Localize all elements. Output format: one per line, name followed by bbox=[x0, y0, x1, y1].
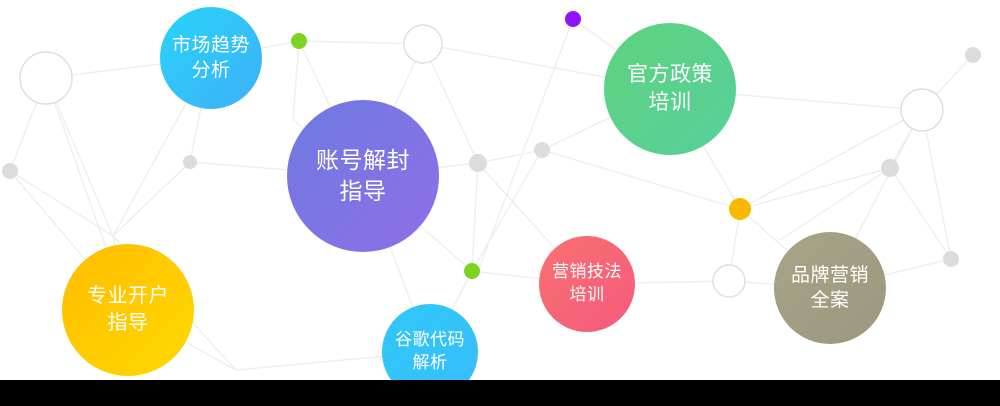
node-top-left bbox=[20, 52, 72, 104]
bubble-label: 市场趋势 分析 bbox=[168, 33, 254, 84]
bubble-label: 账号解封 指导 bbox=[312, 145, 414, 207]
footer-bar bbox=[0, 380, 1000, 406]
bubble-professional-account-opening[interactable]: 专业开户 指导 bbox=[62, 244, 194, 376]
dot-left-edge bbox=[2, 163, 18, 179]
dot-right-lower bbox=[943, 251, 959, 267]
bubble-label: 专业开户 指导 bbox=[83, 283, 173, 337]
dot-right-mid bbox=[881, 159, 899, 177]
dot-center-left bbox=[469, 154, 487, 172]
dot-center bbox=[534, 142, 550, 158]
bubble-label: 营销技法 培训 bbox=[548, 261, 626, 307]
dot-green-top[interactable] bbox=[291, 33, 307, 49]
dot-purple-top[interactable] bbox=[565, 11, 581, 27]
bubble-label: 品牌营销 全案 bbox=[787, 263, 873, 314]
network-edge bbox=[10, 171, 113, 236]
node-top-center bbox=[404, 25, 442, 63]
dot-right-top bbox=[965, 47, 981, 63]
bubble-account-unblock-guidance[interactable]: 账号解封 指导 bbox=[287, 100, 439, 252]
network-edge bbox=[478, 150, 542, 163]
network-edge bbox=[740, 168, 890, 209]
bubble-label: 官方政策 培训 bbox=[623, 61, 717, 117]
network-edge bbox=[472, 163, 478, 271]
dot-left-inner bbox=[183, 155, 197, 169]
dot-green-center[interactable] bbox=[464, 263, 480, 279]
node-mid-right bbox=[713, 265, 745, 297]
network-edge bbox=[293, 41, 299, 120]
bubble-label: 谷歌代码 解析 bbox=[391, 329, 469, 375]
node-right-upper bbox=[901, 89, 943, 131]
bubble-brand-marketing-full-case[interactable]: 品牌营销 全案 bbox=[774, 232, 886, 344]
dot-yellow-right[interactable] bbox=[729, 198, 751, 220]
bubble-official-policy-training[interactable]: 官方政策 培训 bbox=[604, 23, 736, 155]
bubble-market-trend-analysis[interactable]: 市场趋势 分析 bbox=[160, 7, 262, 109]
bubble-marketing-technique-training[interactable]: 营销技法 培训 bbox=[539, 236, 635, 332]
network-edge bbox=[113, 162, 190, 236]
bubble-network-canvas: 市场趋势 分析账号解封 指导官方政策 培训专业开户 指导谷歌代码 解析营销技法 … bbox=[0, 0, 1000, 406]
